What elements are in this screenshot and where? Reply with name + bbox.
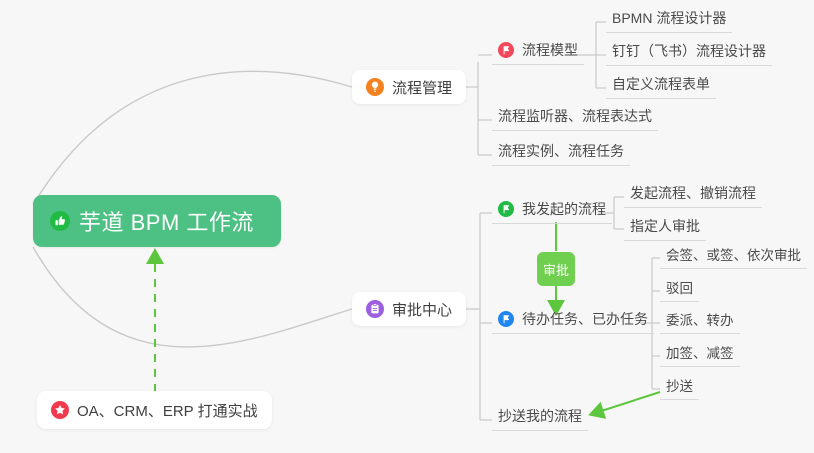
- leaf-node-process-listener-expression[interactable]: 流程监听器、流程表达式: [492, 106, 658, 131]
- leaf-label-add-remove-sign: 加签、减签: [666, 342, 734, 362]
- leaf-node-process-instance-task[interactable]: 流程实例、流程任务: [492, 141, 630, 166]
- leaf-label-custom-process-form: 自定义流程表单: [612, 74, 710, 94]
- leaf-label-todo-done-tasks: 待办任务、已办任务: [522, 309, 648, 329]
- leaf-label-cc: 抄送: [666, 375, 693, 395]
- leaf-node-countersign-orsign-sequential[interactable]: 会签、或签、依次审批: [660, 244, 807, 269]
- clipboard-icon: [366, 300, 384, 318]
- green-flag-icon: [498, 201, 514, 217]
- leaf-node-reject[interactable]: 驳回: [660, 277, 699, 302]
- leaf-node-start-cancel-process[interactable]: 发起流程、撤销流程: [624, 183, 762, 208]
- leaf-label-my-initiated-process: 我发起的流程: [522, 199, 606, 219]
- leaf-node-dingtalk-feishu-designer[interactable]: 钉钉（飞书）流程设计器: [606, 41, 772, 66]
- blue-flag-icon: [498, 311, 514, 327]
- lightbulb-icon: [366, 78, 384, 96]
- leaf-node-bpmn-designer[interactable]: BPMN 流程设计器: [606, 8, 732, 33]
- red-flag-icon: [498, 42, 514, 58]
- branch-node-approval-center[interactable]: 审批中心: [352, 292, 466, 326]
- leaf-label-assignee-approval: 指定人审批: [630, 216, 700, 236]
- branch-node-process-management[interactable]: 流程管理: [352, 70, 466, 104]
- leaf-node-delegate-transfer[interactable]: 委派、转办: [660, 309, 740, 334]
- footer-note-node[interactable]: OA、CRM、ERP 打通实战: [37, 391, 272, 429]
- leaf-label-process-listener-expression: 流程监听器、流程表达式: [498, 106, 652, 126]
- mindmap-canvas: 芋道 BPM 工作流 OA、CRM、ERP 打通实战 流程管理: [0, 0, 814, 453]
- leaf-node-cc-to-me-process[interactable]: 抄送我的流程: [492, 406, 588, 431]
- leaf-node-todo-done-tasks[interactable]: 待办任务、已办任务: [492, 309, 654, 334]
- leaf-label-process-instance-task: 流程实例、流程任务: [498, 141, 624, 161]
- star-icon: [51, 401, 69, 419]
- leaf-label-cc-to-me-process: 抄送我的流程: [498, 406, 582, 426]
- leaf-label-process-model: 流程模型: [522, 40, 578, 60]
- leaf-label-dingtalk-feishu-designer: 钉钉（飞书）流程设计器: [612, 41, 766, 61]
- leaf-label-bpmn-designer: BPMN 流程设计器: [612, 8, 726, 28]
- leaf-label-delegate-transfer: 委派、转办: [666, 309, 734, 329]
- leaf-node-assignee-approval[interactable]: 指定人审批: [624, 216, 706, 241]
- thumbs-up-icon: [50, 211, 70, 231]
- root-label: 芋道 BPM 工作流: [79, 205, 254, 237]
- leaf-node-cc[interactable]: 抄送: [660, 375, 699, 400]
- root-node[interactable]: 芋道 BPM 工作流: [33, 195, 281, 247]
- leaf-node-process-model[interactable]: 流程模型: [492, 40, 584, 65]
- leaf-node-my-initiated-process[interactable]: 我发起的流程: [492, 199, 612, 224]
- branch-label-process-management: 流程管理: [392, 77, 452, 98]
- branch-label-approval-center: 审批中心: [392, 299, 452, 320]
- leaf-node-add-remove-sign[interactable]: 加签、减签: [660, 342, 740, 367]
- leaf-node-custom-process-form[interactable]: 自定义流程表单: [606, 74, 716, 99]
- leaf-label-countersign-orsign-sequential: 会签、或签、依次审批: [666, 244, 801, 264]
- leaf-label-start-cancel-process: 发起流程、撤销流程: [630, 183, 756, 203]
- approval-tag-label: 审批: [543, 260, 569, 279]
- leaf-label-reject: 驳回: [666, 277, 693, 297]
- approval-tag[interactable]: 审批: [537, 252, 575, 286]
- footer-note-label: OA、CRM、ERP 打通实战: [77, 400, 258, 421]
